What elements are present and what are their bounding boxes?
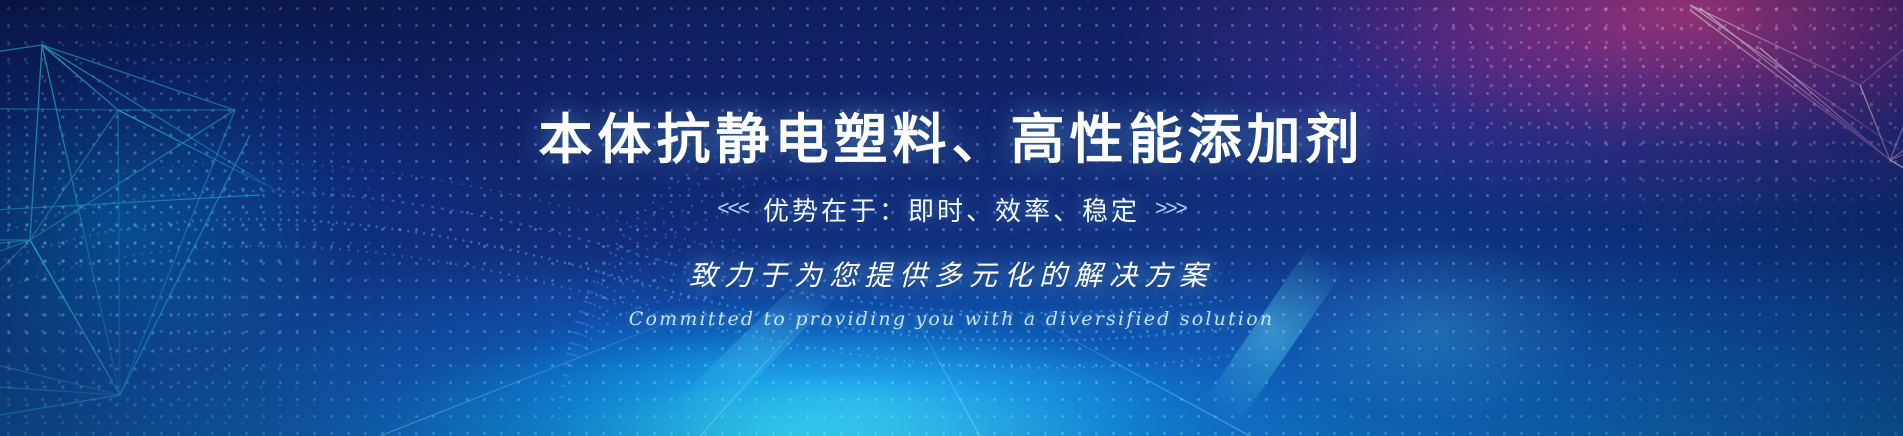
banner-english-line: Committed to providing you with a divers…: [629, 308, 1275, 330]
hero-banner: 本体抗静电塑料、高性能添加剂 <<< 优势在于：即时、效率、稳定 >>> 致力于…: [0, 0, 1903, 436]
chevron-left-icon: <<<: [717, 197, 748, 221]
banner-subtitle: 优势在于：即时、效率、稳定: [763, 191, 1140, 228]
banner-subtitle-row: <<< 优势在于：即时、效率、稳定 >>>: [717, 191, 1186, 228]
chevron-right-icon: >>>: [1155, 197, 1186, 221]
banner-script-line: 致力于为您提供多元化的解决方案: [689, 254, 1214, 294]
banner-copy: 本体抗静电塑料、高性能添加剂 <<< 优势在于：即时、效率、稳定 >>> 致力于…: [0, 0, 1903, 436]
banner-title: 本体抗静电塑料、高性能添加剂: [539, 112, 1365, 169]
